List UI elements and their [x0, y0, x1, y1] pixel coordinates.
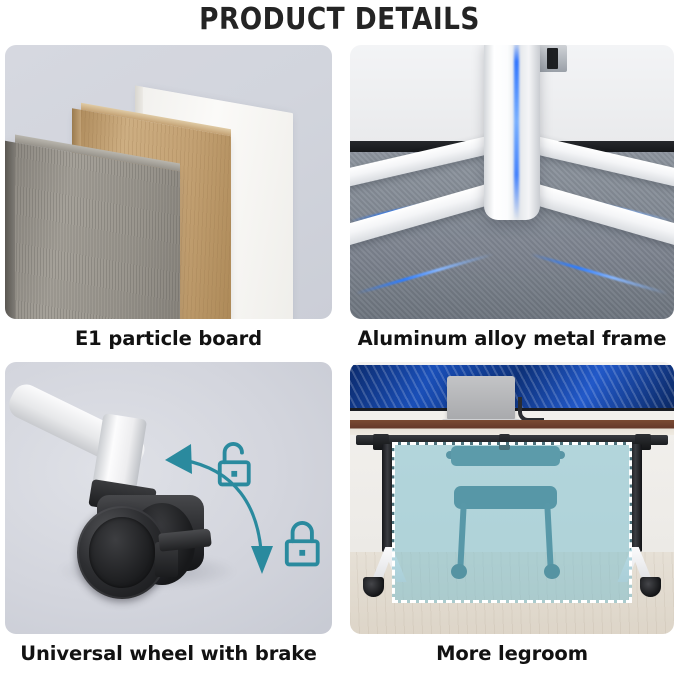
board-sample-gray	[15, 142, 180, 319]
feature-card-e1-particle-board: E1 particle board	[5, 45, 332, 360]
feature-image-e1-particle-board	[5, 45, 332, 319]
desk-tabletop	[350, 420, 674, 435]
frame-column-glow	[514, 45, 519, 220]
feature-card-aluminum-alloy-metal-frame: Aluminum alloy metal frame	[350, 45, 674, 360]
feature-image-universal-wheel-with-brake	[5, 362, 332, 634]
caster-wheel-front	[77, 506, 167, 598]
feature-caption-e1-particle-board: E1 particle board	[5, 327, 332, 350]
feature-image-aluminum-alloy-metal-frame	[350, 45, 674, 319]
product-details-page: PRODUCT DETAILS E1 particle board	[0, 0, 679, 673]
monitor-cable	[518, 397, 544, 421]
feature-image-more-legroom	[350, 362, 674, 634]
board-edge-gray	[5, 141, 15, 319]
lock-icon	[281, 520, 324, 568]
frame-center-column	[484, 45, 539, 220]
feature-card-more-legroom: More legroom	[350, 362, 674, 673]
feature-caption-universal-wheel-with-brake: Universal wheel with brake	[5, 642, 332, 665]
legroom-highlight-area	[392, 442, 632, 602]
feature-caption-more-legroom: More legroom	[350, 642, 674, 665]
feature-card-universal-wheel-with-brake: Universal wheel with brake	[5, 362, 332, 673]
feature-caption-aluminum-alloy-metal-frame: Aluminum alloy metal frame	[350, 327, 674, 350]
board-face-gray	[15, 142, 180, 319]
page-title: PRODUCT DETAILS	[41, 2, 639, 37]
laptop	[447, 376, 515, 420]
frame-wall-outlet	[538, 45, 567, 72]
unlock-icon	[213, 441, 256, 489]
